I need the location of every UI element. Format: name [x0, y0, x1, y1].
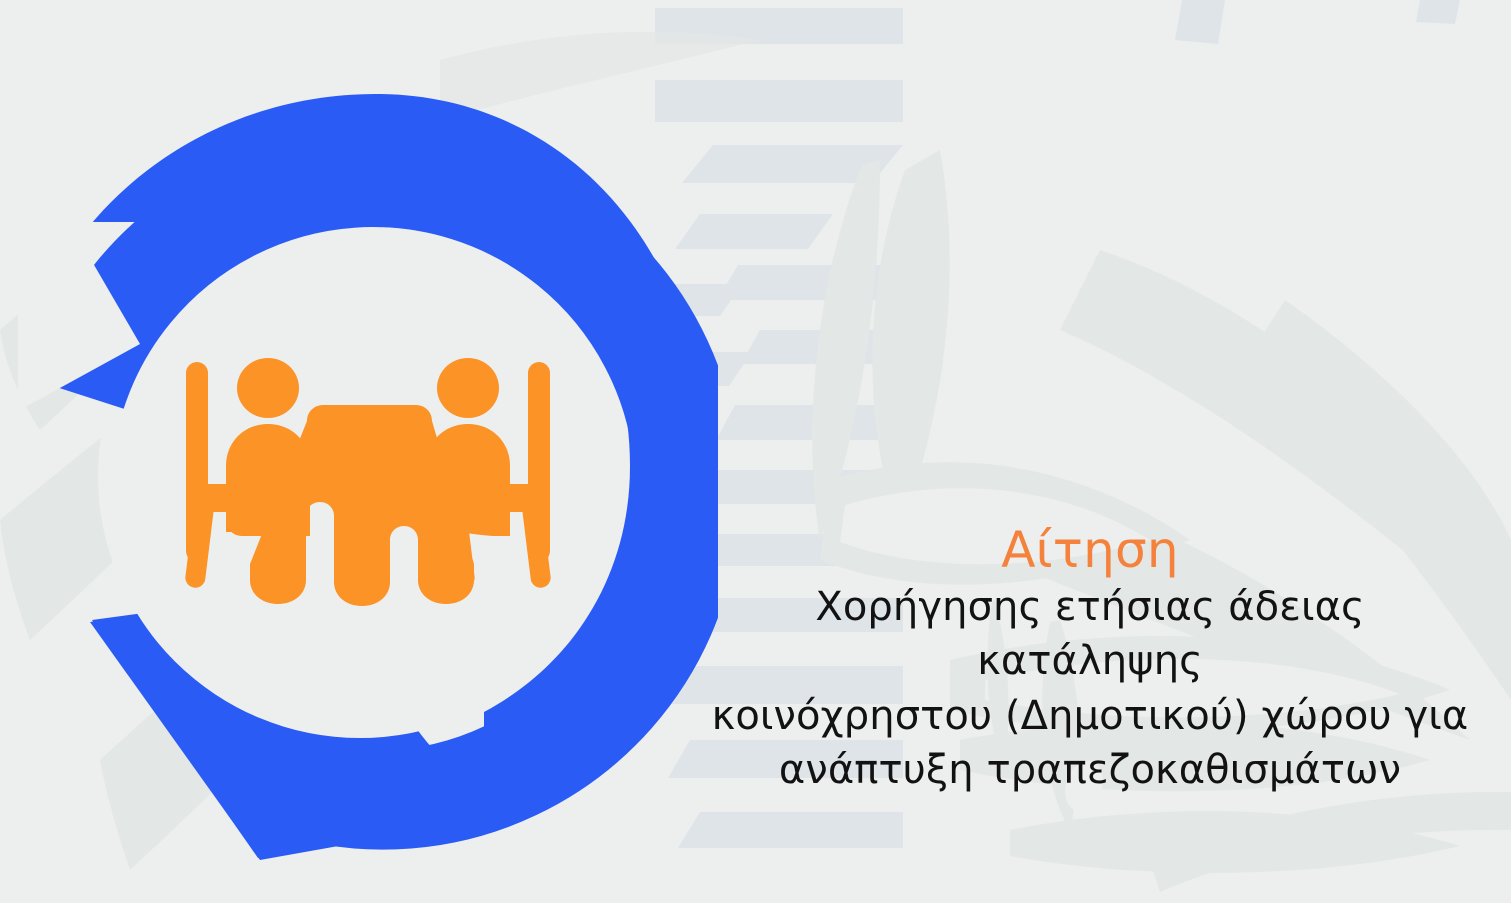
- page-subtitle: Χορήγησης ετήσιας άδειας κατάληψης κοινό…: [700, 580, 1480, 798]
- subtitle-line-2: κοινόχρηστου (Δημοτικού) χώρου για: [712, 693, 1469, 739]
- logo: [18, 72, 718, 862]
- text-block: Αίτηση Χορήγησης ετήσιας άδειας κατάληψη…: [700, 524, 1480, 798]
- subtitle-line-1: Χορήγησης ετήσιας άδειας κατάληψης: [815, 584, 1364, 684]
- slide-canvas: Αίτηση Χορήγησης ετήσιας άδειας κατάληψη…: [0, 0, 1511, 903]
- logo-svg: [18, 72, 718, 862]
- subtitle-line-3: ανάπτυξη τραπεζοκαθισμάτων: [779, 747, 1401, 793]
- page-title: Αίτηση: [700, 524, 1480, 576]
